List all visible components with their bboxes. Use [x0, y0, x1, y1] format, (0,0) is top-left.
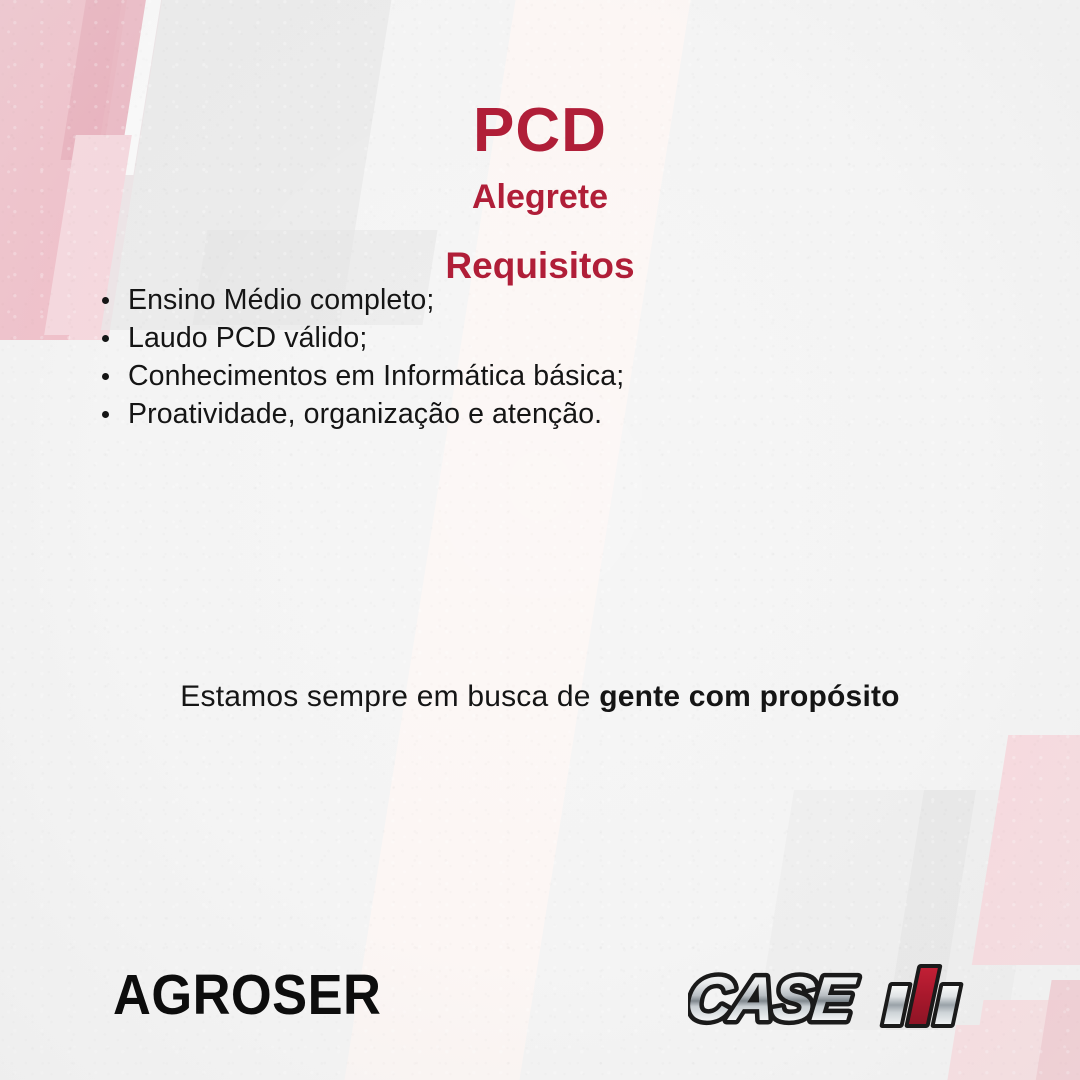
agroser-logo: AGROSER: [113, 967, 381, 1024]
bullet-icon: [102, 411, 109, 418]
case-wordmark: CASE CASE: [688, 965, 859, 1034]
case-ih-logo: CASE CASE: [688, 958, 978, 1040]
bullet-icon: [102, 297, 109, 304]
poster-canvas: PCD Alegrete Requisitos Ensino Médio com…: [0, 0, 1080, 1080]
list-item: Laudo PCD válido;: [100, 319, 624, 357]
section-heading: Requisitos: [0, 247, 1080, 284]
list-item-label: Laudo PCD válido;: [128, 322, 367, 354]
tagline-bold: gente com propósito: [599, 680, 899, 713]
headline-block: PCD Alegrete Requisitos: [0, 100, 1080, 284]
tagline-regular: Estamos sempre em busca de: [180, 680, 599, 713]
page-title: PCD: [0, 100, 1080, 162]
poster-content: PCD Alegrete Requisitos Ensino Médio com…: [0, 0, 1080, 1080]
list-item-label: Proatividade, organização e atenção.: [128, 398, 602, 430]
tagline: Estamos sempre em busca de gente com pro…: [0, 680, 1080, 714]
case-ih-logo-svg: CASE CASE: [688, 958, 978, 1040]
svg-text:CASE: CASE: [688, 965, 859, 1034]
list-item-label: Conhecimentos em Informática básica;: [128, 360, 624, 392]
bullet-icon: [102, 335, 109, 342]
list-item: Ensino Médio completo;: [100, 281, 624, 319]
ih-mark-icon: [882, 966, 966, 1026]
list-item: Proatividade, organização e atenção.: [100, 395, 624, 433]
bullet-icon: [102, 373, 109, 380]
requirements-list: Ensino Médio completo; Laudo PCD válido;…: [100, 281, 624, 433]
list-item: Conhecimentos em Informática básica;: [100, 357, 624, 395]
list-item-label: Ensino Médio completo;: [128, 284, 434, 316]
location-subtitle: Alegrete: [0, 180, 1080, 214]
